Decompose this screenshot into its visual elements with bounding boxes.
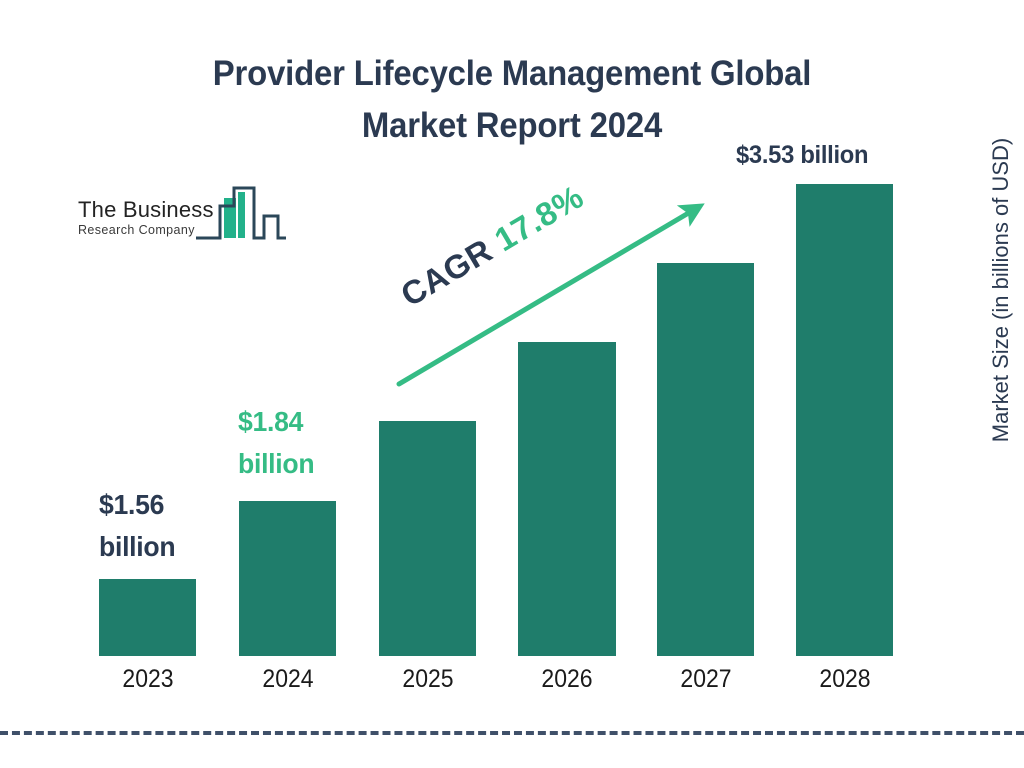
x-tick-2026: 2026 [503, 664, 632, 694]
bar-2026 [518, 342, 616, 656]
value-label-2024: $1.84 billion [238, 401, 314, 485]
bar-2028 [796, 184, 893, 656]
y-axis-label: Market Size (in billions of USD) [981, 95, 1021, 485]
plot-area: 2023 2024 2025 2026 2027 2028 [0, 0, 1024, 768]
bar-2027 [657, 263, 754, 656]
x-tick-2023: 2023 [84, 664, 213, 694]
x-tick-2027: 2027 [642, 664, 771, 694]
x-tick-2025: 2025 [364, 664, 493, 694]
chart-canvas: Provider Lifecycle Management Global Mar… [0, 0, 1024, 768]
value-label-2023: $1.56 billion [99, 484, 175, 568]
x-tick-2024: 2024 [224, 664, 353, 694]
footer-divider [0, 731, 1024, 735]
bar-2024 [239, 501, 336, 656]
x-tick-2028: 2028 [781, 664, 910, 694]
bar-2023 [99, 579, 196, 656]
value-label-2028: $3.53 billion [736, 139, 868, 171]
bar-2025 [379, 421, 476, 656]
